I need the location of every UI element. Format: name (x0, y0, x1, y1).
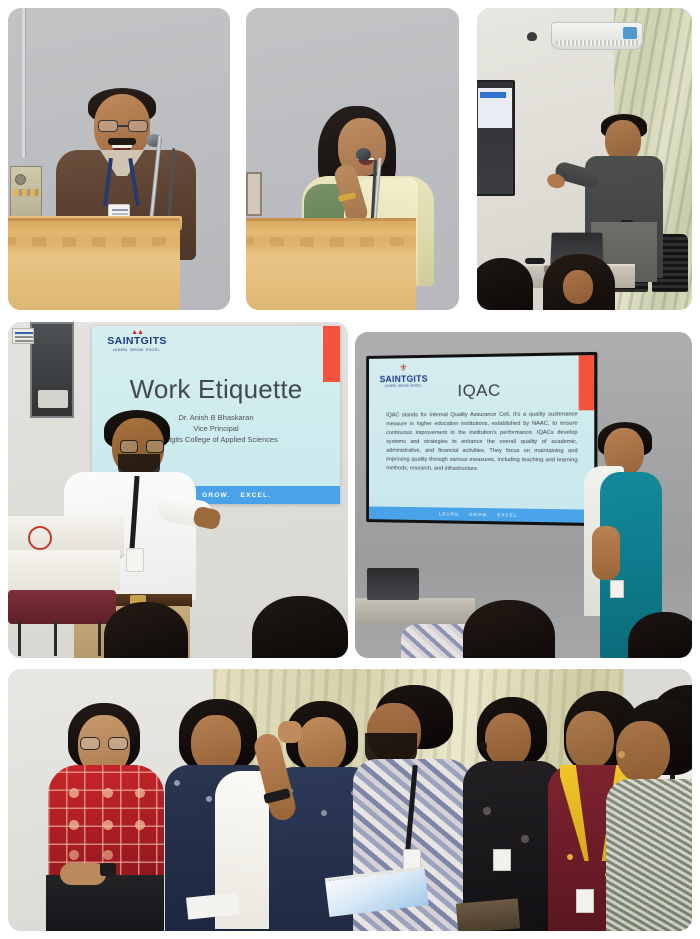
photo-1-scene (8, 8, 230, 310)
ac-label (623, 27, 637, 39)
photo-5-scene: ⚜ SAINTGITS LEARN. GROW. EXCEL. IQAC IQA… (355, 332, 692, 658)
audience-face (563, 270, 593, 304)
photo-4-scene: ▲▲ SAINTGITS LEARN. GROW. EXCEL. Work Et… (8, 322, 348, 658)
slide-footer: LEARN. GROW. EXCEL. (369, 506, 594, 523)
audience-member-8: Woman in grey-green textured shawl looki… (606, 695, 692, 931)
photo-bottom-audience[interactable]: Woman with spectacles in red patterned s… (8, 669, 692, 931)
participant-6-description: Woman in maroon salwar with yellow dupat… (548, 691, 549, 692)
participant-7-description: Bearded man in off-white shirt with blue… (636, 689, 637, 690)
id-badge (493, 849, 511, 871)
participant-8-description: Woman in grey-green textured shawl looki… (606, 695, 607, 696)
laptop (367, 568, 419, 600)
audience-member-1: Woman with spectacles in red patterned s… (46, 703, 164, 931)
wooden-podium (246, 218, 416, 310)
presenter-arms (592, 526, 620, 580)
microphone-head-icon (356, 148, 371, 161)
slide-title: Work Etiquette (92, 374, 340, 405)
participant-lap (46, 875, 164, 931)
handheld-microphone (525, 258, 545, 264)
slide-title: IQAC (369, 380, 594, 402)
photo-top-left[interactable]: Man with moustache and spectacles in bro… (8, 8, 230, 310)
footer-item-grow: GROW. (202, 492, 230, 499)
participant-4-description: Bearded young man in checked shirt with … (353, 687, 354, 688)
participant-5-description: Woman in black printed kurta with ID car… (463, 693, 464, 694)
cctv-camera-icon (527, 32, 537, 41)
photo-top-right[interactable]: Man in dark grey shirt gesturing while a… (477, 8, 692, 310)
footer-item-excel: EXCEL. (241, 492, 272, 499)
wall-sign (12, 328, 34, 344)
audience-head (477, 258, 533, 310)
smart-watch (100, 863, 116, 876)
footer-item-learn: LEARN. (439, 511, 461, 516)
grey-green-shawl (606, 779, 692, 931)
notebook (456, 898, 520, 931)
logo-wordmark: SAINTGITS (104, 336, 170, 347)
wall-control-box (10, 166, 42, 218)
audience-member-4: Bearded young man in checked shirt with … (353, 687, 471, 931)
participant-face (298, 717, 346, 773)
photo-3-scene (477, 8, 692, 310)
slide-body-text: IQAC stands for Internal Quality Assuran… (386, 410, 577, 474)
moustache (108, 138, 136, 145)
control-dial (15, 174, 26, 185)
id-badge (576, 889, 594, 913)
footer-item-excel: EXCEL. (497, 512, 519, 517)
hand-on-head (278, 721, 302, 743)
photo-6-scene: Woman with spectacles in red patterned s… (8, 669, 692, 931)
participant-3-description: Young woman in blue printed kurta restin… (266, 695, 267, 696)
spectacles-icon (98, 120, 148, 132)
wall-equipment-panel (30, 322, 74, 418)
photo-2-scene (246, 8, 459, 310)
footer-item-grow: GROW. (469, 512, 489, 517)
projection-display (477, 80, 515, 196)
spectacles-icon (120, 440, 164, 453)
iqac-slide: ⚜ SAINTGITS LEARN. GROW. EXCEL. IQAC IQA… (369, 355, 594, 523)
id-badge (126, 548, 144, 572)
logo-tagline: LEARN. GROW. EXCEL. (104, 347, 170, 352)
chair-cover-cloth (8, 550, 120, 590)
id-badge (610, 580, 624, 598)
chair-legs (14, 622, 110, 656)
wall-frame (246, 172, 262, 216)
wall-pipe (22, 8, 25, 158)
saintgits-logo: ▲▲ SAINTGITS LEARN. GROW. EXCEL. (104, 330, 170, 356)
shawl-motif-pattern (56, 777, 156, 869)
earring (479, 741, 487, 751)
wooden-podium (8, 218, 180, 310)
participant-face (485, 713, 531, 767)
participant-2-description: Young woman in navy printed kurta with w… (163, 699, 164, 700)
presentation-table (355, 598, 475, 624)
air-conditioner-unit (551, 22, 643, 50)
display-content (478, 88, 512, 128)
participant-nose (618, 751, 625, 758)
red-chair-seat (8, 590, 116, 624)
photo-middle-right[interactable]: ⚜ SAINTGITS LEARN. GROW. EXCEL. IQAC IQA… (355, 332, 692, 658)
photo-top-centre[interactable]: Woman in cream and green saree speaking … (246, 8, 459, 310)
photo-middle-left[interactable]: ▲▲ SAINTGITS LEARN. GROW. EXCEL. Work Et… (8, 322, 348, 658)
participant-1-description: Woman with spectacles in red patterned s… (46, 703, 47, 704)
audience-head (104, 602, 188, 658)
projector-screen: ⚜ SAINTGITS LEARN. GROW. EXCEL. IQAC IQA… (366, 352, 597, 526)
audience-member-2: Young woman in navy printed kurta with w… (163, 699, 279, 931)
spectacles-icon (80, 737, 128, 750)
photo-collage: Man with moustache and spectacles in bro… (0, 0, 700, 939)
